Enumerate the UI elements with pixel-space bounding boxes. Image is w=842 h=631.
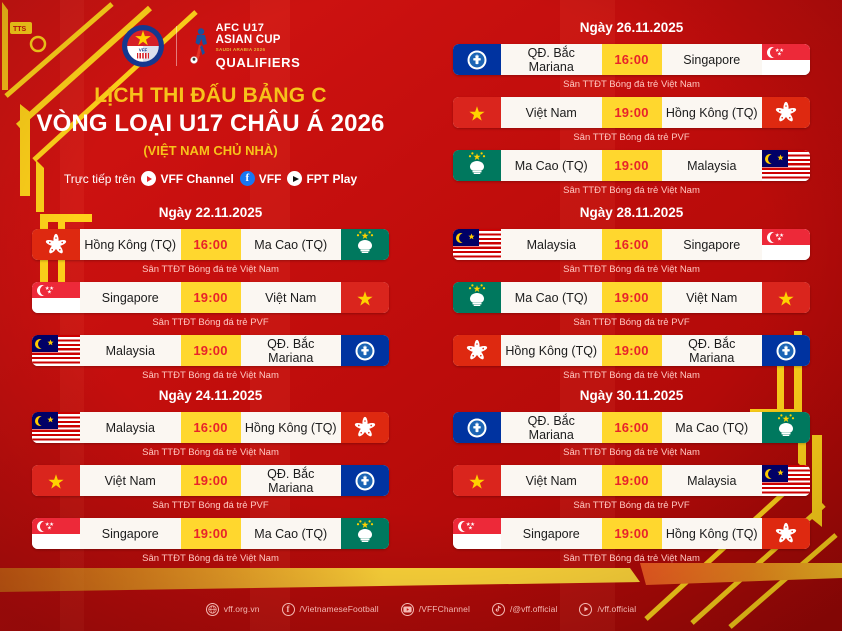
home-team-name: QĐ. Bắc Mariana (501, 412, 602, 443)
fptplay-icon (579, 603, 592, 616)
day-block: Ngày 24.11.2025Malaysia16:00Hồng Kông (T… (0, 388, 421, 571)
logo-row: VFF AFC U17 (121, 22, 301, 70)
home-team-name: Hồng Kông (TQ) (501, 335, 602, 366)
flag-northern-mariana-islands (341, 465, 389, 496)
home-team-name: Việt Nam (80, 465, 181, 496)
match-time: 19:00 (181, 518, 241, 549)
flag-macau (453, 282, 501, 313)
away-team-name: Hồng Kông (TQ) (241, 412, 342, 443)
match-time: 19:00 (181, 282, 241, 313)
broadcast-channel-youtube[interactable]: VFF Channel (141, 171, 233, 186)
match-venue: Sân TTĐT Bóng đá trẻ PVF (421, 500, 842, 511)
away-team-name: Ma Cao (TQ) (241, 518, 342, 549)
footer-link-website[interactable]: vff.org.vn (206, 603, 260, 616)
poster-footer: vff.org.vn f /VietnameseFootball /VFFCha… (0, 565, 842, 631)
away-team-name: QĐ. Bắc Mariana (241, 335, 342, 366)
flag-hong-kong (32, 229, 80, 260)
match-venue: Sân TTĐT Bóng đá trẻ Việt Nam (421, 553, 842, 564)
afc-line-2: ASIAN CUP (216, 35, 301, 47)
match-venue: Sân TTĐT Bóng đá trẻ Việt Nam (0, 264, 421, 275)
match-time: 19:00 (181, 335, 241, 366)
match-row[interactable]: Việt Nam19:00QĐ. Bắc Mariana (32, 465, 389, 496)
flag-malaysia (32, 335, 80, 366)
broadcast-channel-label: VFF Channel (160, 172, 233, 186)
home-team-name: Malaysia (80, 335, 181, 366)
footer-link-youtube[interactable]: /VFFChannel (401, 603, 470, 616)
match-time: 16:00 (181, 412, 241, 443)
home-team-name: Singapore (501, 518, 602, 549)
match-venue: Sân TTĐT Bóng đá trẻ Việt Nam (0, 553, 421, 564)
afc-line-4: QUALIFIERS (216, 56, 301, 69)
match-venue: Sân TTĐT Bóng đá trẻ PVF (0, 317, 421, 328)
broadcast-channel-label: VFF (259, 172, 282, 186)
footballer-icon (188, 26, 212, 66)
flag-singapore (32, 282, 80, 313)
match-time: 19:00 (602, 282, 662, 313)
away-team-name: QĐ. Bắc Mariana (241, 465, 342, 496)
away-team-name: Ma Cao (TQ) (662, 412, 763, 443)
match-venue: Sân TTĐT Bóng đá trẻ PVF (0, 500, 421, 511)
home-team-name: Malaysia (501, 229, 602, 260)
match-venue: Sân TTĐT Bóng đá trẻ PVF (421, 132, 842, 143)
flag-macau (453, 150, 501, 181)
broadcast-channel-label: FPT Play (306, 172, 357, 186)
broadcast-channel-facebook[interactable]: f VFF (240, 171, 282, 186)
match-time: 16:00 (602, 44, 662, 75)
away-team-name: Ma Cao (TQ) (241, 229, 342, 260)
match-venue: Sân TTĐT Bóng đá trẻ Việt Nam (421, 264, 842, 275)
match-time: 19:00 (602, 150, 662, 181)
tiktok-icon (492, 603, 505, 616)
match-venue: Sân TTĐT Bóng đá trẻ Việt Nam (421, 185, 842, 196)
flag-macau (341, 518, 389, 549)
flag-hong-kong (341, 412, 389, 443)
vff-logo: VFF (121, 24, 165, 68)
match-venue: Sân TTĐT Bóng đá trẻ PVF (421, 317, 842, 328)
flag-hong-kong (762, 518, 810, 549)
flag-singapore (762, 229, 810, 260)
youtube-icon (141, 171, 156, 186)
home-team-name: Ma Cao (TQ) (501, 150, 602, 181)
match-row[interactable]: Singapore19:00Hồng Kông (TQ) (453, 518, 810, 549)
away-team-name: Việt Nam (241, 282, 342, 313)
match-venue: Sân TTĐT Bóng đá trẻ Việt Nam (421, 447, 842, 458)
logo-divider (176, 26, 177, 66)
flag-singapore (453, 518, 501, 549)
match-row[interactable]: Malaysia16:00Singapore (453, 229, 810, 260)
match-time: 19:00 (602, 97, 662, 128)
home-team-name: Việt Nam (501, 97, 602, 128)
day-block: Ngày 22.11.2025Hồng Kông (TQ)16:00Ma Cao… (0, 205, 421, 388)
day-date: Ngày 30.11.2025 (421, 388, 842, 403)
match-time: 16:00 (602, 229, 662, 260)
afc-u17-asian-cup-logo: AFC U17 ASIAN CUP SAUDI ARABIA 2026 QUAL… (188, 23, 301, 69)
afc-line-1: AFC U17 (216, 23, 301, 34)
footer-link-label: /VietnameseFootball (300, 604, 379, 614)
broadcast-channel-fptplay[interactable]: FPT Play (287, 171, 357, 186)
match-venue: Sân TTĐT Bóng đá trẻ Việt Nam (0, 370, 421, 381)
match-venue: Sân TTĐT Bóng đá trẻ Việt Nam (421, 79, 842, 90)
day-block: Ngày 30.11.2025QĐ. Bắc Mariana16:00Ma Ca… (421, 388, 842, 571)
match-row[interactable]: Malaysia16:00Hồng Kông (TQ) (32, 412, 389, 443)
away-team-name: Hồng Kông (TQ) (662, 97, 763, 128)
poster-header: VFF AFC U17 (0, 0, 421, 205)
day-date: Ngày 26.11.2025 (421, 20, 842, 35)
flag-vietnam (453, 97, 501, 128)
flag-malaysia (762, 150, 810, 181)
afc-line-3: SAUDI ARABIA 2026 (216, 48, 301, 53)
match-venue: Sân TTĐT Bóng đá trẻ Việt Nam (421, 370, 842, 381)
day-date: Ngày 24.11.2025 (0, 388, 421, 403)
away-team-name: Malaysia (662, 465, 763, 496)
match-row[interactable]: Ma Cao (TQ)19:00Malaysia (453, 150, 810, 181)
day-date: Ngày 28.11.2025 (421, 205, 842, 220)
poster-root: VFF AFC U17 (0, 0, 842, 631)
flag-northern-mariana-islands (341, 335, 389, 366)
match-row[interactable]: Singapore19:00Ma Cao (TQ) (32, 518, 389, 549)
day-block: Ngày 28.11.2025Malaysia16:00SingaporeSân… (421, 205, 842, 388)
home-team-name: Hồng Kông (TQ) (80, 229, 181, 260)
footer-link-label: /@vff.official (510, 604, 558, 614)
home-team-name: Singapore (80, 282, 181, 313)
match-time: 19:00 (602, 518, 662, 549)
flag-singapore (762, 44, 810, 75)
home-team-name: Ma Cao (TQ) (501, 282, 602, 313)
footer-link-tiktok[interactable]: /@vff.official (492, 603, 558, 616)
match-row[interactable]: Singapore19:00Việt Nam (32, 282, 389, 313)
home-team-name: Malaysia (80, 412, 181, 443)
home-team-name: QĐ. Bắc Mariana (501, 44, 602, 75)
broadcast-row: Trực tiếp trên VFF Channel f VFF FPT Pla… (64, 171, 357, 186)
fptplay-icon (287, 171, 302, 186)
match-time: 19:00 (181, 465, 241, 496)
match-row[interactable]: Hồng Kông (TQ)16:00Ma Cao (TQ) (32, 229, 389, 260)
flag-singapore (32, 518, 80, 549)
flag-northern-mariana-islands (453, 44, 501, 75)
away-team-name: Hồng Kông (TQ) (662, 518, 763, 549)
page-title-line-2: VÒNG LOẠI U17 CHÂU Á 2026 (37, 110, 385, 138)
flag-malaysia (453, 229, 501, 260)
match-venue: Sân TTĐT Bóng đá trẻ Việt Nam (0, 447, 421, 458)
match-row[interactable]: Malaysia19:00QĐ. Bắc Mariana (32, 335, 389, 366)
away-team-name: QĐ. Bắc Mariana (662, 335, 763, 366)
flag-vietnam (762, 282, 810, 313)
flag-northern-mariana-islands (762, 335, 810, 366)
flag-hong-kong (453, 335, 501, 366)
facebook-icon: f (282, 603, 295, 616)
flag-vietnam (32, 465, 80, 496)
match-row[interactable]: Ma Cao (TQ)19:00Việt Nam (453, 282, 810, 313)
flag-hong-kong (762, 97, 810, 128)
page-title-line-3: (VIỆT NAM CHỦ NHÀ) (143, 143, 277, 158)
match-time: 16:00 (602, 412, 662, 443)
flag-malaysia (32, 412, 80, 443)
home-team-name: Việt Nam (501, 465, 602, 496)
flag-macau (341, 229, 389, 260)
day-block: Ngày 26.11.2025QĐ. Bắc Mariana16:00Singa… (421, 20, 842, 203)
away-team-name: Singapore (662, 44, 763, 75)
away-team-name: Malaysia (662, 150, 763, 181)
match-row[interactable]: QĐ. Bắc Mariana16:00Ma Cao (TQ) (453, 412, 810, 443)
footer-link-label: /VFFChannel (419, 604, 470, 614)
day-date: Ngày 22.11.2025 (0, 205, 421, 220)
flag-macau (762, 412, 810, 443)
page-title-line-1: LỊCH THI ĐẤU BẢNG C (94, 84, 326, 108)
match-row[interactable]: Hồng Kông (TQ)19:00QĐ. Bắc Mariana (453, 335, 810, 366)
match-time: 19:00 (602, 465, 662, 496)
match-row[interactable]: QĐ. Bắc Mariana16:00Singapore (453, 44, 810, 75)
facebook-icon: f (240, 171, 255, 186)
match-time: 16:00 (181, 229, 241, 260)
match-row[interactable]: Việt Nam19:00Hồng Kông (TQ) (453, 97, 810, 128)
home-team-name: Singapore (80, 518, 181, 549)
broadcast-label: Trực tiếp trên (64, 172, 136, 186)
away-team-name: Việt Nam (662, 282, 763, 313)
match-time: 19:00 (602, 335, 662, 366)
footer-link-fptplay[interactable]: /vff.official (579, 603, 636, 616)
flag-malaysia (762, 465, 810, 496)
away-team-name: Singapore (662, 229, 763, 260)
globe-icon (206, 603, 219, 616)
flag-vietnam (453, 465, 501, 496)
footer-link-label: /vff.official (597, 604, 636, 614)
svg-text:VFF: VFF (138, 48, 147, 53)
match-row[interactable]: Việt Nam19:00Malaysia (453, 465, 810, 496)
flag-vietnam (341, 282, 389, 313)
flag-northern-mariana-islands (453, 412, 501, 443)
youtube-icon (401, 603, 414, 616)
footer-link-facebook[interactable]: f /VietnameseFootball (282, 603, 379, 616)
footer-link-label: vff.org.vn (224, 604, 260, 614)
